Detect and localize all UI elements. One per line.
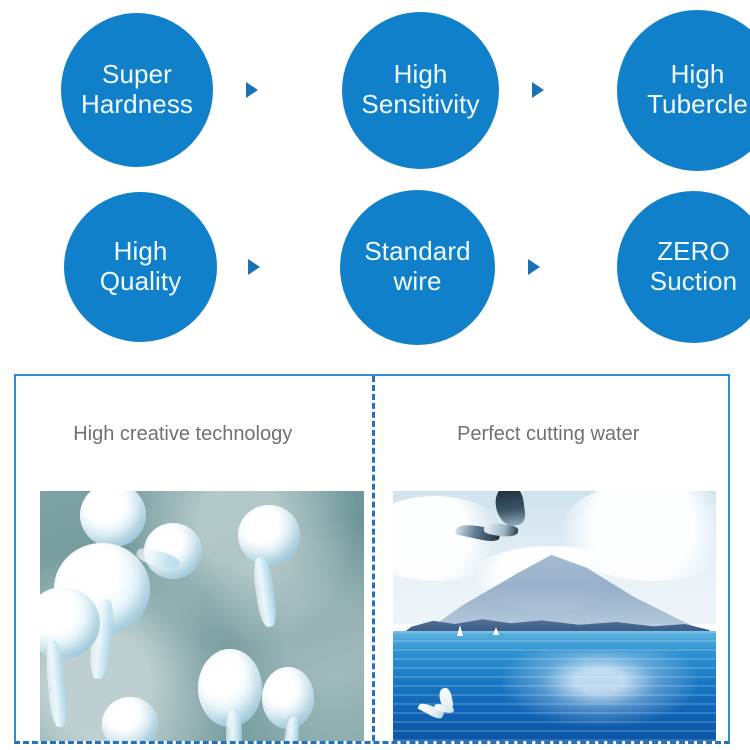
ice-molecule-artwork: [40, 491, 364, 741]
feature-node-line: Tubercle: [647, 90, 748, 120]
feature-node-line: Sensitivity: [361, 90, 479, 120]
feature-node-super-hardness[interactable]: Super Hardness: [61, 13, 213, 167]
feature-row-bottom: High Quality Standard wire ZERO Suction: [0, 182, 750, 352]
arrow-right-icon: [532, 82, 544, 98]
showcase-image-left: [40, 491, 364, 741]
feature-node-line: High: [114, 237, 168, 267]
feature-node-high-sensitivity[interactable]: High Sensitivity: [342, 12, 499, 169]
seagull-over-ocean-photo: [393, 491, 717, 741]
showcase-panel-left[interactable]: High creative technology: [16, 376, 372, 741]
feature-node-zero-suction[interactable]: ZERO Suction: [617, 191, 750, 343]
feature-node-standard-wire[interactable]: Standard wire: [340, 190, 495, 345]
showcase-panel-right[interactable]: Perfect cutting water: [375, 376, 729, 741]
feature-node-line: High: [671, 60, 725, 90]
feature-node-line: High: [394, 60, 448, 90]
feature-node-high-quality[interactable]: High Quality: [64, 192, 217, 342]
panel-caption-left: High creative technology: [73, 424, 292, 444]
sailboat-icon: [493, 627, 499, 635]
panel-caption-right: Perfect cutting water: [457, 424, 639, 444]
feature-node-line: wire: [393, 267, 441, 297]
arrow-right-icon: [246, 82, 258, 98]
arrow-right-icon: [248, 259, 260, 275]
feature-node-line: Suction: [650, 267, 737, 297]
showcase-image-right: [393, 491, 717, 741]
feature-diagram: Super Hardness High Sensitivity High Tub…: [0, 0, 750, 360]
sailboat-icon: [457, 625, 463, 636]
feature-node-line: Quality: [100, 267, 182, 297]
feature-node-line: Hardness: [81, 90, 193, 120]
feature-node-line: Super: [102, 60, 172, 90]
feature-node-line: Standard: [364, 237, 470, 267]
feature-row-top: Super Hardness High Sensitivity High Tub…: [0, 5, 750, 175]
feature-node-line: ZERO: [657, 237, 730, 267]
showcase-frame: High creative technology Perfect cu: [14, 374, 730, 744]
arrow-right-icon: [528, 259, 540, 275]
feature-node-high-tubercle[interactable]: High Tubercle: [617, 10, 750, 171]
